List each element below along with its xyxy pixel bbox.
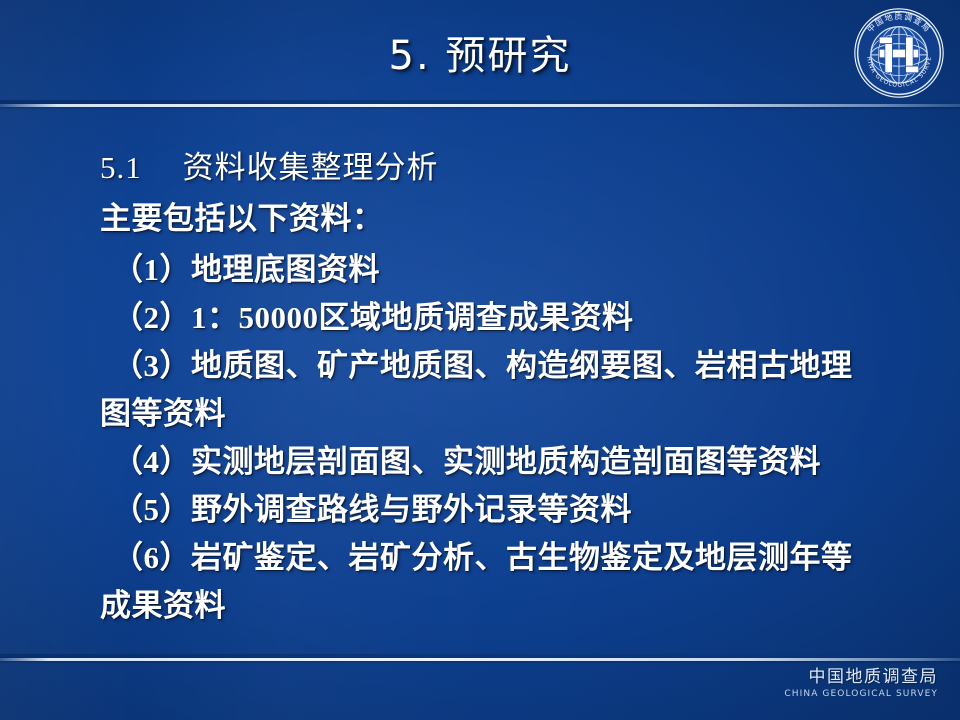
footer-brand-en: CHINA GEOLOGICAL SURVEY (784, 689, 938, 699)
section-heading: 5.1 资料收集整理分析 (100, 142, 439, 187)
list-item: （6）岩矿鉴定、岩矿分析、古生物鉴定及地层测年等 (112, 532, 853, 577)
china-geological-survey-logo-icon: 中国地质调查局 CHINA GEOLOGICAL SURVEY (852, 6, 946, 100)
footer-brand-cn: 中国地质调查局 (784, 668, 938, 687)
list-item: （1）地理底图资料 (112, 244, 380, 289)
list-item-continuation: 图等资料 (100, 388, 226, 433)
list-item-continuation: 成果资料 (100, 580, 226, 625)
list-item: （5）野外调查路线与野外记录等资料 (112, 484, 632, 529)
footer-brand: 中国地质调查局 CHINA GEOLOGICAL SURVEY (784, 668, 938, 699)
list-item: （4）实测地层剖面图、实测地质构造剖面图等资料 (112, 436, 821, 481)
intro-text: 主要包括以下资料： (100, 193, 384, 238)
list-item: （3）地质图、矿产地质图、构造纲要图、岩相古地理 (112, 340, 853, 385)
page-title: 5. 预研究 (0, 23, 960, 81)
presentation-slide: 5. 预研究 (0, 0, 960, 720)
list-item: （2）1：50000区域地质调查成果资料 (112, 292, 634, 337)
slide-header: 5. 预研究 (0, 0, 960, 106)
footer-divider (0, 658, 960, 661)
slide-body: 5.1 资料收集整理分析 主要包括以下资料： （1）地理底图资料 （2）1：50… (0, 106, 960, 654)
